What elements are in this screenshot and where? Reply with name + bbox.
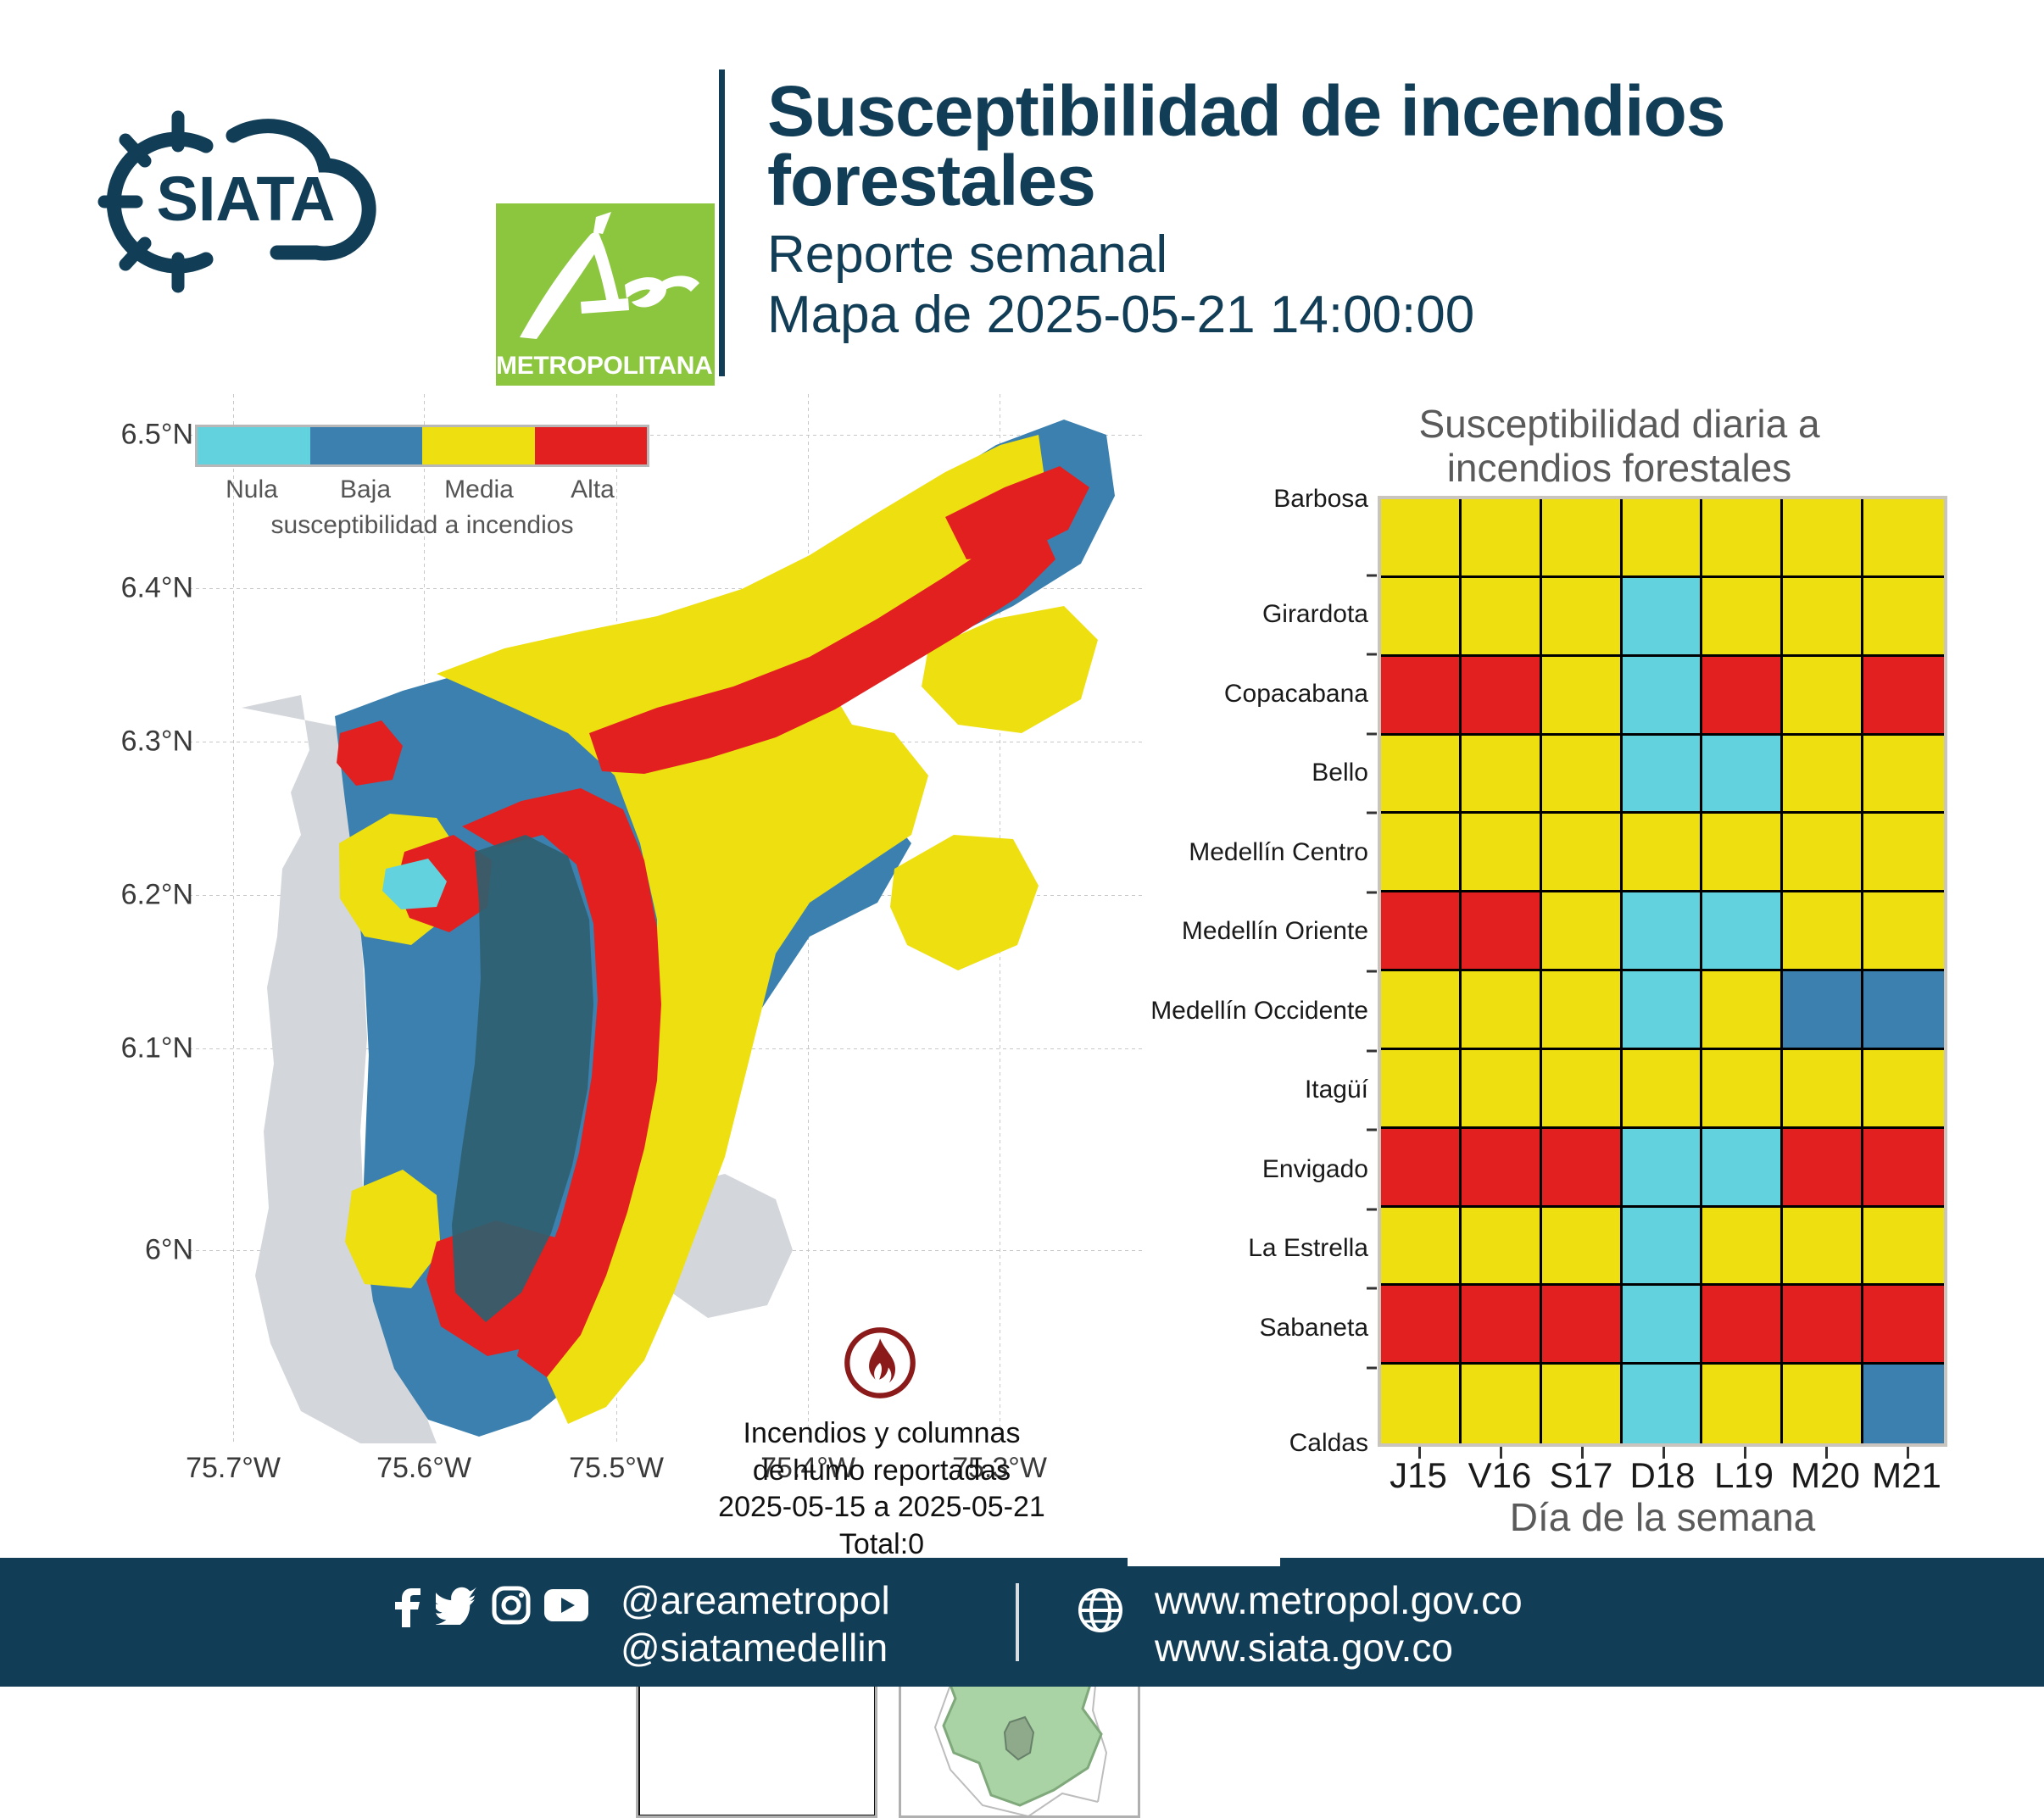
heatmap-cell[interactable] [1783,1365,1863,1443]
legend-swatch-alta [535,427,648,464]
fire-icon [842,1325,918,1401]
area-script-icon [496,210,715,346]
heatmap-grid[interactable] [1378,496,1947,1447]
legend-swatch-baja [310,427,423,464]
heatmap-cell[interactable] [1863,736,1944,814]
heatmap-title-line1: Susceptibilidad diaria a [1238,403,2001,447]
siata-sun-cloud-icon: SIATA [89,102,445,305]
heatmap-cell[interactable] [1863,892,1944,971]
heatmap-cell[interactable] [1381,657,1462,736]
heatmap-cell[interactable] [1542,971,1623,1050]
heatmap-cell[interactable] [1623,892,1703,971]
url-metropol[interactable]: www.metropol.gov.co [1155,1576,1523,1624]
heatmap-y-tick [1367,970,1377,973]
page-footer: @areametropol @siatamedellin www.metropo… [0,1558,2044,1687]
heatmap-cell[interactable] [1462,499,1542,578]
heatmap-x-axis-title: Día de la semana [1378,1494,1947,1540]
heatmap-cell[interactable] [1542,1129,1623,1208]
heatmap-cell[interactable] [1381,971,1462,1050]
heatmap-y-label: Barbosa [1012,485,1368,514]
heatmap-cell[interactable] [1462,1129,1542,1208]
heatmap-y-tick [1367,574,1377,576]
heatmap-cell[interactable] [1381,1286,1462,1365]
heatmap-cell[interactable] [1783,499,1863,578]
heatmap-y-tick [1367,653,1377,656]
heatmap-cell[interactable] [1623,578,1703,657]
heatmap-cell[interactable] [1702,1286,1783,1365]
heatmap-cell[interactable] [1462,1050,1542,1129]
heatmap-cell[interactable] [1702,892,1783,971]
heatmap-cell[interactable] [1863,1365,1944,1443]
heatmap-cell[interactable] [1623,1208,1703,1287]
area-metropolitana-line1: METROPOLITANA [496,352,706,381]
siata-acronym: SIATA [156,164,335,234]
globe-icon [1077,1587,1124,1634]
heatmap-cell[interactable] [1783,1286,1863,1365]
heatmap-cell[interactable] [1381,578,1462,657]
heatmap-cell[interactable] [1702,814,1783,892]
heatmap-cell[interactable] [1623,971,1703,1050]
legend-label-alta: Alta [508,475,677,504]
heatmap-cell[interactable] [1381,736,1462,814]
fire-annotation-line3: 2025-05-15 a 2025-05-21 [678,1489,1085,1526]
heatmap-cell[interactable] [1623,1129,1703,1208]
heatmap-y-tick [1367,812,1377,814]
facebook-icon[interactable] [390,1583,424,1627]
heatmap-cell[interactable] [1623,1365,1703,1443]
heatmap-cell[interactable] [1702,971,1783,1050]
map-ytick: 6.1°N [24,1032,193,1065]
heatmap-cell[interactable] [1542,657,1623,736]
page-header: SIATA METROPOLITANA Valle de Aburrá SIST… [0,0,2044,390]
heatmap-cell[interactable] [1623,736,1703,814]
heatmap-cell[interactable] [1863,1050,1944,1129]
heatmap-y-tick [1367,1208,1377,1210]
map-legend-colorbar [195,425,649,467]
heatmap-y-label: Sabaneta [1012,1314,1368,1343]
heatmap-y-tick [1367,1287,1377,1290]
heatmap-cell[interactable] [1783,1050,1863,1129]
heatmap-cell[interactable] [1542,814,1623,892]
heatmap-cell[interactable] [1542,736,1623,814]
footer-divider [1016,1583,1019,1661]
youtube-icon[interactable] [543,1587,590,1623]
heatmap-cell[interactable] [1863,1286,1944,1365]
heatmap-cell[interactable] [1462,971,1542,1050]
heatmap-cell[interactable] [1783,657,1863,736]
handle-areametropol[interactable]: @areametropol [621,1576,890,1624]
heatmap-cell[interactable] [1863,971,1944,1050]
heatmap-y-label: La Estrella [1012,1234,1368,1263]
header-divider [719,69,725,376]
map-ytick: 6.2°N [24,879,193,912]
website-urls: www.metropol.gov.co www.siata.gov.co [1155,1576,1523,1671]
heatmap-cell[interactable] [1623,657,1703,736]
heatmap-cell[interactable] [1863,499,1944,578]
heatmap-y-label: Copacabana [1012,680,1368,709]
map-xtick: 75.6°W [331,1452,517,1485]
map-ytick: 6.3°N [24,726,193,759]
twitter-icon[interactable] [436,1586,480,1625]
heatmap-y-label: Girardota [1012,600,1368,629]
heatmap-cell[interactable] [1542,1286,1623,1365]
heatmap-cell[interactable] [1462,736,1542,814]
susceptibility-map [182,394,1145,1445]
legend-swatch-media [422,427,535,464]
heatmap-cell[interactable] [1462,814,1542,892]
heatmap-cell[interactable] [1381,1365,1462,1443]
map-xtick: 75.7°W [140,1452,326,1485]
heatmap-cell[interactable] [1783,971,1863,1050]
heatmap-cell[interactable] [1542,1050,1623,1129]
heatmap-cell[interactable] [1462,1286,1542,1365]
heatmap-y-label: Medellín Oriente [1012,917,1368,946]
heatmap-cell[interactable] [1542,892,1623,971]
heatmap-cell[interactable] [1863,1129,1944,1208]
heatmap-cell[interactable] [1623,814,1703,892]
social-block: @areametropol @siatamedellin [390,1576,890,1671]
heatmap-cell[interactable] [1783,1208,1863,1287]
heatmap-cell[interactable] [1783,1129,1863,1208]
heatmap-cell[interactable] [1381,1129,1462,1208]
heatmap-cell[interactable] [1542,1208,1623,1287]
heatmap-title-line2: incendios forestales [1238,447,2001,491]
heatmap-y-tick [1367,1049,1377,1052]
heatmap-cell[interactable] [1702,1129,1783,1208]
siata-logo: SIATA METROPOLITANA Valle de Aburrá SIST… [89,102,623,356]
heatmap-y-label: Itagüí [1012,1076,1368,1104]
heatmap-y-tick [1367,732,1377,735]
footer-notch [1128,1558,1280,1566]
heatmap-cell[interactable] [1381,814,1462,892]
heatmap-panel: Susceptibilidad diaria a incendios fores… [1170,386,2018,1538]
heatmap-cell[interactable] [1783,814,1863,892]
heatmap-cell[interactable] [1623,499,1703,578]
page-subtitle: Reporte semanal [767,225,2022,285]
website-block: www.metropol.gov.co www.siata.gov.co [1077,1576,1523,1671]
heatmap-cell[interactable] [1702,1050,1783,1129]
title-block: Susceptibilidad de incendios forestales … [767,76,2022,345]
heatmap-cell[interactable] [1783,892,1863,971]
heatmap-cell[interactable] [1702,736,1783,814]
heatmap-x-label: M21 [1822,1455,1991,1496]
heatmap-y-tick [1367,1129,1377,1131]
heatmap-cell[interactable] [1702,499,1783,578]
heatmap-cell[interactable] [1702,657,1783,736]
heatmap-cell[interactable] [1462,892,1542,971]
heatmap-cell[interactable] [1623,1050,1703,1129]
heatmap-cell[interactable] [1462,578,1542,657]
heatmap-cell[interactable] [1702,1208,1783,1287]
heatmap-cell[interactable] [1381,1208,1462,1287]
heatmap-cell[interactable] [1623,1286,1703,1365]
heatmap-cell[interactable] [1783,578,1863,657]
heatmap-cell[interactable] [1702,578,1783,657]
heatmap-cell[interactable] [1783,736,1863,814]
legend-caption: susceptibilidad a incendios [195,511,649,540]
heatmap-y-tick [1367,1366,1377,1369]
heatmap-cell[interactable] [1542,499,1623,578]
social-handles: @areametropol @siatamedellin [621,1576,890,1671]
handle-siatamedellin[interactable]: @siatamedellin [621,1624,890,1671]
heatmap-cell[interactable] [1863,814,1944,892]
heatmap-title: Susceptibilidad diaria a incendios fores… [1238,403,2001,490]
map-ytick: 6°N [24,1234,193,1267]
heatmap-cell[interactable] [1863,1208,1944,1287]
heatmap-y-label: Caldas [1012,1429,1368,1458]
map-panel: Nula Baja Media Alta susceptibilidad a i… [34,386,1161,1538]
heatmap-y-label: Envigado [1012,1155,1368,1184]
heatmap-x-tick [1907,1447,1909,1459]
heatmap-cell[interactable] [1863,657,1944,736]
legend-swatch-nula [198,427,310,464]
heatmap-y-label: Medellín Occidente [1012,997,1368,1026]
map-date-line: Mapa de 2025-05-21 14:00:00 [767,285,2022,345]
heatmap-cell[interactable] [1863,578,1944,657]
heatmap-y-label: Medellín Centro [1012,838,1368,867]
heatmap-cell[interactable] [1702,1365,1783,1443]
map-ytick: 6.5°N [24,419,193,452]
heatmap-cell[interactable] [1381,892,1462,971]
heatmap-cell[interactable] [1542,578,1623,657]
heatmap-cell[interactable] [1542,1365,1623,1443]
heatmap-cell[interactable] [1462,1208,1542,1287]
instagram-icon[interactable] [492,1586,531,1625]
heatmap-cell[interactable] [1381,499,1462,578]
fire-annotation-line2: de humo reportadas [678,1453,1085,1490]
url-siata[interactable]: www.siata.gov.co [1155,1624,1523,1671]
heatmap-y-tick [1367,891,1377,893]
social-icon-row [390,1583,590,1627]
heatmap-cell[interactable] [1381,1050,1462,1129]
page-title: Susceptibilidad de incendios forestales [767,76,2022,216]
map-ytick: 6.4°N [24,572,193,605]
heatmap-y-label: Bello [1012,759,1368,787]
heatmap-cell[interactable] [1462,657,1542,736]
heatmap-cell[interactable] [1462,1365,1542,1443]
